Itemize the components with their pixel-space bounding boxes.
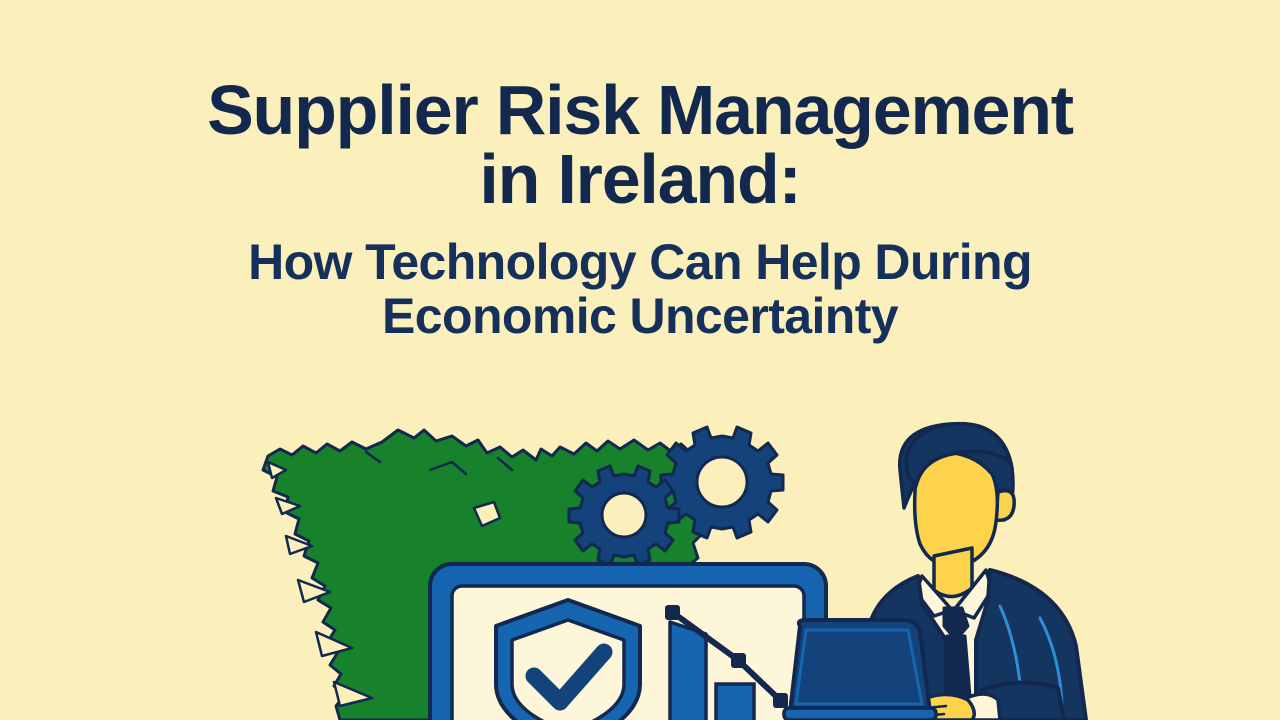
supplier-risk-illustration — [0, 0, 1280, 720]
poster-canvas: Supplier Risk Management in Ireland: How… — [0, 0, 1280, 720]
laptop-icon — [784, 620, 936, 720]
shield-check-icon — [496, 600, 640, 720]
monitor-display — [430, 564, 826, 720]
gear-small-icon — [569, 466, 679, 565]
